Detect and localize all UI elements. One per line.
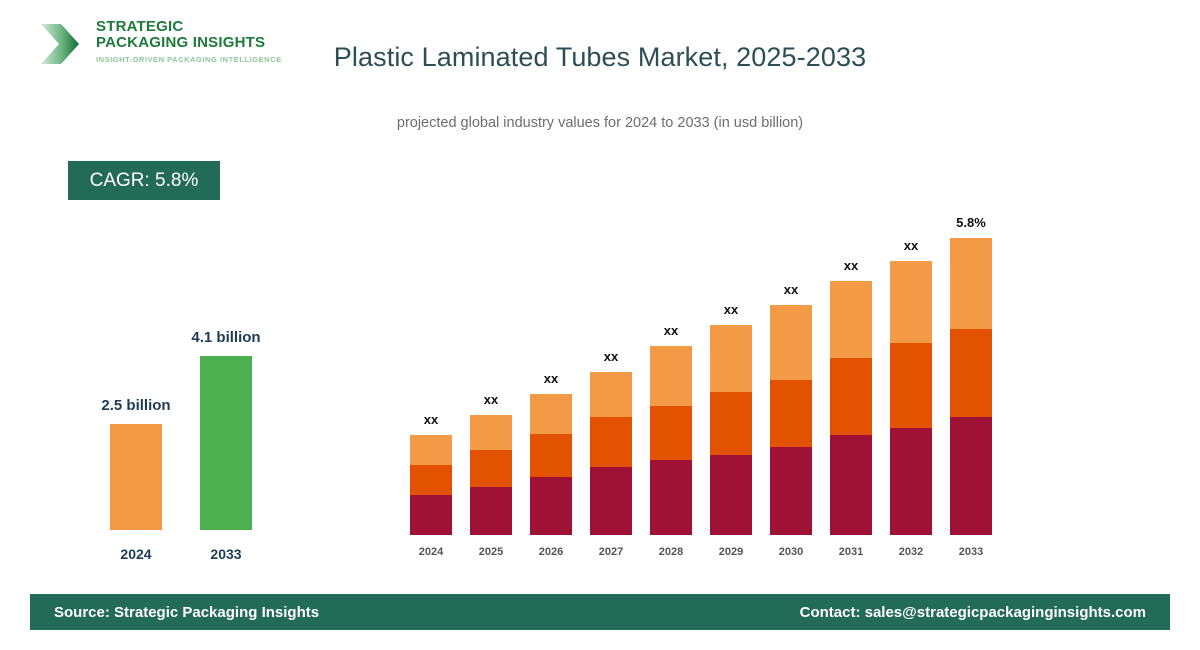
stack-segment-segment-bottom	[470, 487, 512, 535]
stack-segment-segment-bottom	[890, 428, 932, 535]
stack-category-label: 2033	[936, 546, 1006, 558]
stack-value-label: xx	[571, 349, 651, 364]
bar-rect	[110, 424, 162, 530]
stack-segment-segment-middle	[890, 343, 932, 428]
stack-segment-segment-bottom	[950, 417, 992, 535]
stack-segment-segment-middle	[410, 465, 452, 495]
bar-category-label: 2033	[186, 546, 266, 562]
stacked-bar-2030	[770, 305, 812, 535]
logo-line-1: STRATEGIC	[96, 19, 282, 35]
stack-segment-segment-top	[590, 372, 632, 417]
comparison-bar-2024	[110, 424, 162, 530]
stack-segment-segment-bottom	[770, 447, 812, 535]
bar-value-label: 4.1 billion	[141, 329, 311, 346]
stack-segment-segment-middle	[830, 358, 872, 435]
footer-source: Source: Strategic Packaging Insights	[54, 604, 319, 621]
stacked-bar-2027	[590, 372, 632, 535]
stacked-bar-2024	[410, 435, 452, 535]
cagr-badge: CAGR: 5.8%	[68, 161, 220, 200]
stacked-bar-chart: xx2024xx2025xx2026xx2027xx2028xx2029xx20…	[400, 195, 1020, 560]
stack-segment-segment-top	[530, 394, 572, 434]
stack-segment-segment-middle	[710, 392, 752, 455]
stack-segment-segment-bottom	[710, 455, 752, 535]
stack-value-label: xx	[691, 302, 771, 317]
footer-bar: Source: Strategic Packaging Insights Con…	[30, 594, 1170, 630]
stack-segment-segment-middle	[650, 406, 692, 460]
page-subtitle: projected global industry values for 202…	[0, 115, 1200, 131]
page-title: Plastic Laminated Tubes Market, 2025-203…	[0, 42, 1200, 73]
stack-segment-segment-middle	[590, 417, 632, 467]
stack-value-label: xx	[631, 323, 711, 338]
stack-value-label: xx	[511, 371, 591, 386]
stacked-bar-2026	[530, 394, 572, 535]
stack-segment-segment-top	[890, 261, 932, 343]
stack-value-label: xx	[451, 392, 531, 407]
stack-segment-segment-middle	[770, 380, 812, 447]
stacked-bar-2033	[950, 238, 992, 535]
stack-segment-segment-top	[770, 305, 812, 380]
stack-segment-segment-top	[410, 435, 452, 465]
stack-segment-segment-middle	[950, 329, 992, 417]
stack-segment-segment-middle	[470, 450, 512, 487]
comparison-bar-2033	[200, 356, 252, 530]
stack-segment-segment-top	[650, 346, 692, 406]
stacked-bar-2032	[890, 261, 932, 535]
stack-segment-segment-bottom	[830, 435, 872, 535]
stacked-bar-2031	[830, 281, 872, 535]
stack-segment-segment-middle	[530, 434, 572, 477]
bar-rect	[200, 356, 252, 530]
stack-segment-segment-bottom	[590, 467, 632, 535]
stack-segment-segment-bottom	[650, 460, 692, 535]
stack-segment-segment-top	[710, 325, 752, 392]
stacked-bar-2025	[470, 415, 512, 535]
stack-segment-segment-bottom	[530, 477, 572, 535]
stacked-bar-2028	[650, 346, 692, 535]
bar-value-label: 2.5 billion	[51, 397, 221, 414]
stack-segment-segment-bottom	[410, 495, 452, 535]
footer-contact: Contact: sales@strategicpackaginginsight…	[800, 604, 1146, 621]
bar-category-label: 2024	[96, 546, 176, 562]
stack-value-label: 5.8%	[931, 215, 1011, 230]
stack-value-label: xx	[391, 412, 471, 427]
stack-value-label: xx	[751, 282, 831, 297]
stack-value-label: xx	[811, 258, 891, 273]
stack-segment-segment-top	[950, 238, 992, 329]
stack-segment-segment-top	[470, 415, 512, 450]
stack-value-label: xx	[871, 238, 951, 253]
comparison-bar-chart: 2.5 billion20244.1 billion2033	[55, 300, 285, 570]
stacked-bar-2029	[710, 325, 752, 535]
stack-segment-segment-top	[830, 281, 872, 358]
